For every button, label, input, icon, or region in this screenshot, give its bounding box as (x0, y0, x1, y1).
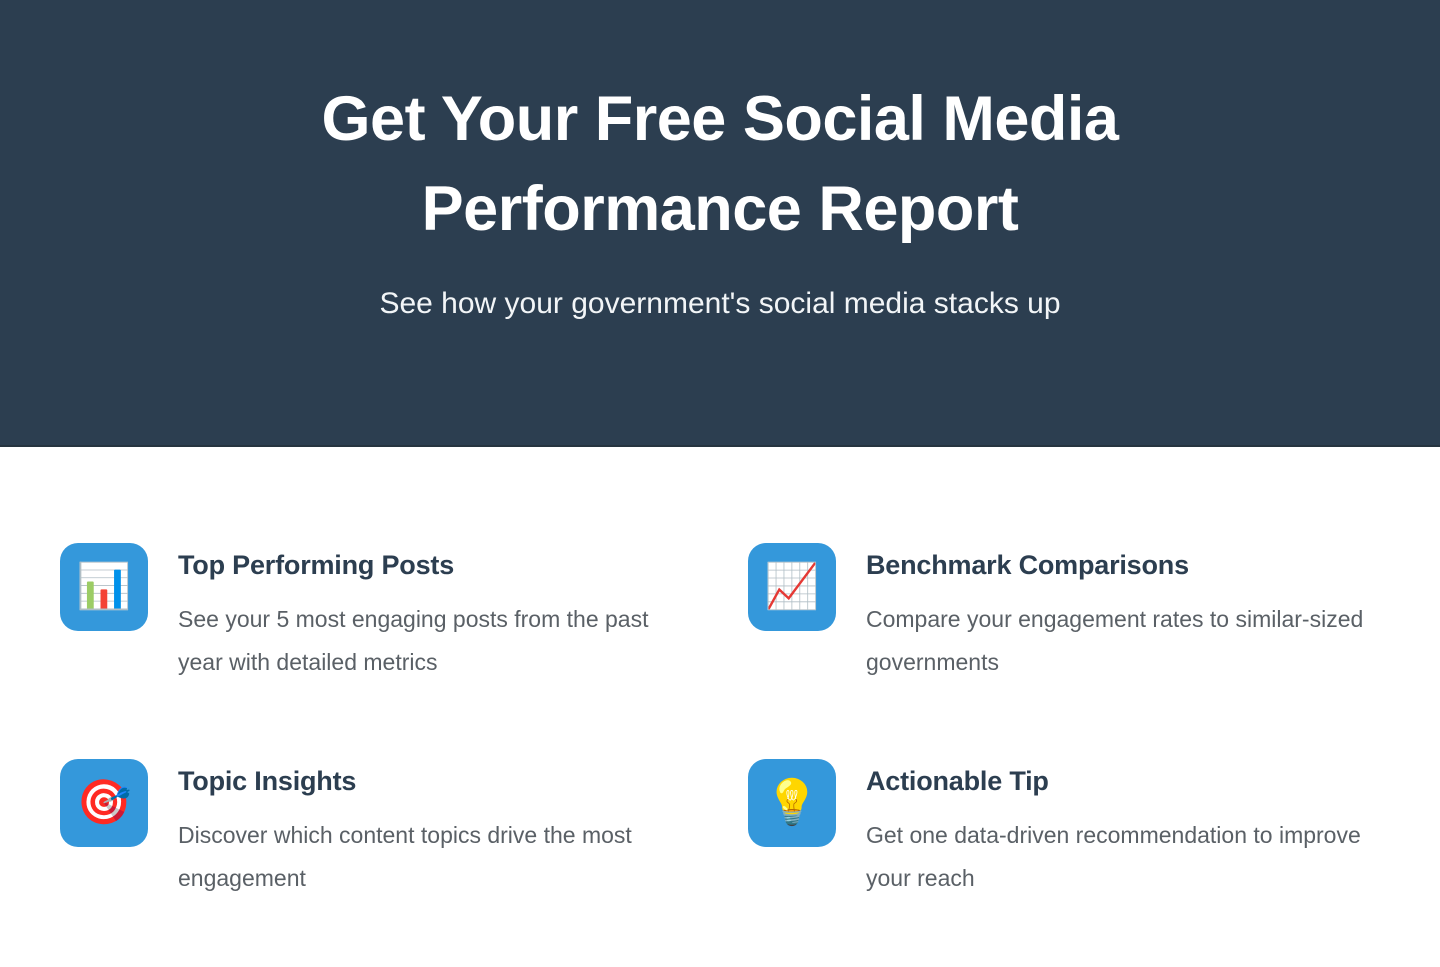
target-emoji-icon: 🎯 (60, 759, 148, 847)
feature-title: Actionable Tip (866, 764, 1436, 798)
feature-title: Top Performing Posts (178, 548, 748, 582)
page-subtitle: See how your government's social media s… (379, 284, 1060, 324)
feature-text-block: Top Performing Posts See your 5 most eng… (178, 543, 748, 684)
light-bulb-emoji-icon: 💡 (748, 759, 836, 847)
feature-card-topic-insights: 🎯 Topic Insights Discover which content … (60, 759, 748, 900)
feature-text-block: Actionable Tip Get one data-driven recom… (866, 759, 1436, 900)
page-title: Get Your Free Social Media Performance R… (230, 74, 1210, 254)
feature-title: Topic Insights (178, 764, 748, 798)
feature-text-block: Topic Insights Discover which content to… (178, 759, 748, 900)
feature-description: Compare your engagement rates to similar… (866, 598, 1396, 684)
feature-description: Discover which content topics drive the … (178, 814, 688, 900)
hero-section: Get Your Free Social Media Performance R… (0, 0, 1440, 447)
feature-card-benchmark-comparisons: 📈 Benchmark Comparisons Compare your eng… (748, 543, 1436, 684)
feature-card-actionable-tip: 💡 Actionable Tip Get one data-driven rec… (748, 759, 1436, 900)
feature-description: See your 5 most engaging posts from the … (178, 598, 688, 684)
bar-chart-emoji-icon: 📊 (60, 543, 148, 631)
feature-title: Benchmark Comparisons (866, 548, 1436, 582)
chart-increasing-emoji-icon: 📈 (748, 543, 836, 631)
feature-description: Get one data-driven recommendation to im… (866, 814, 1396, 900)
feature-card-top-performing-posts: 📊 Top Performing Posts See your 5 most e… (60, 543, 748, 684)
feature-text-block: Benchmark Comparisons Compare your engag… (866, 543, 1436, 684)
features-grid: 📊 Top Performing Posts See your 5 most e… (0, 447, 1440, 900)
